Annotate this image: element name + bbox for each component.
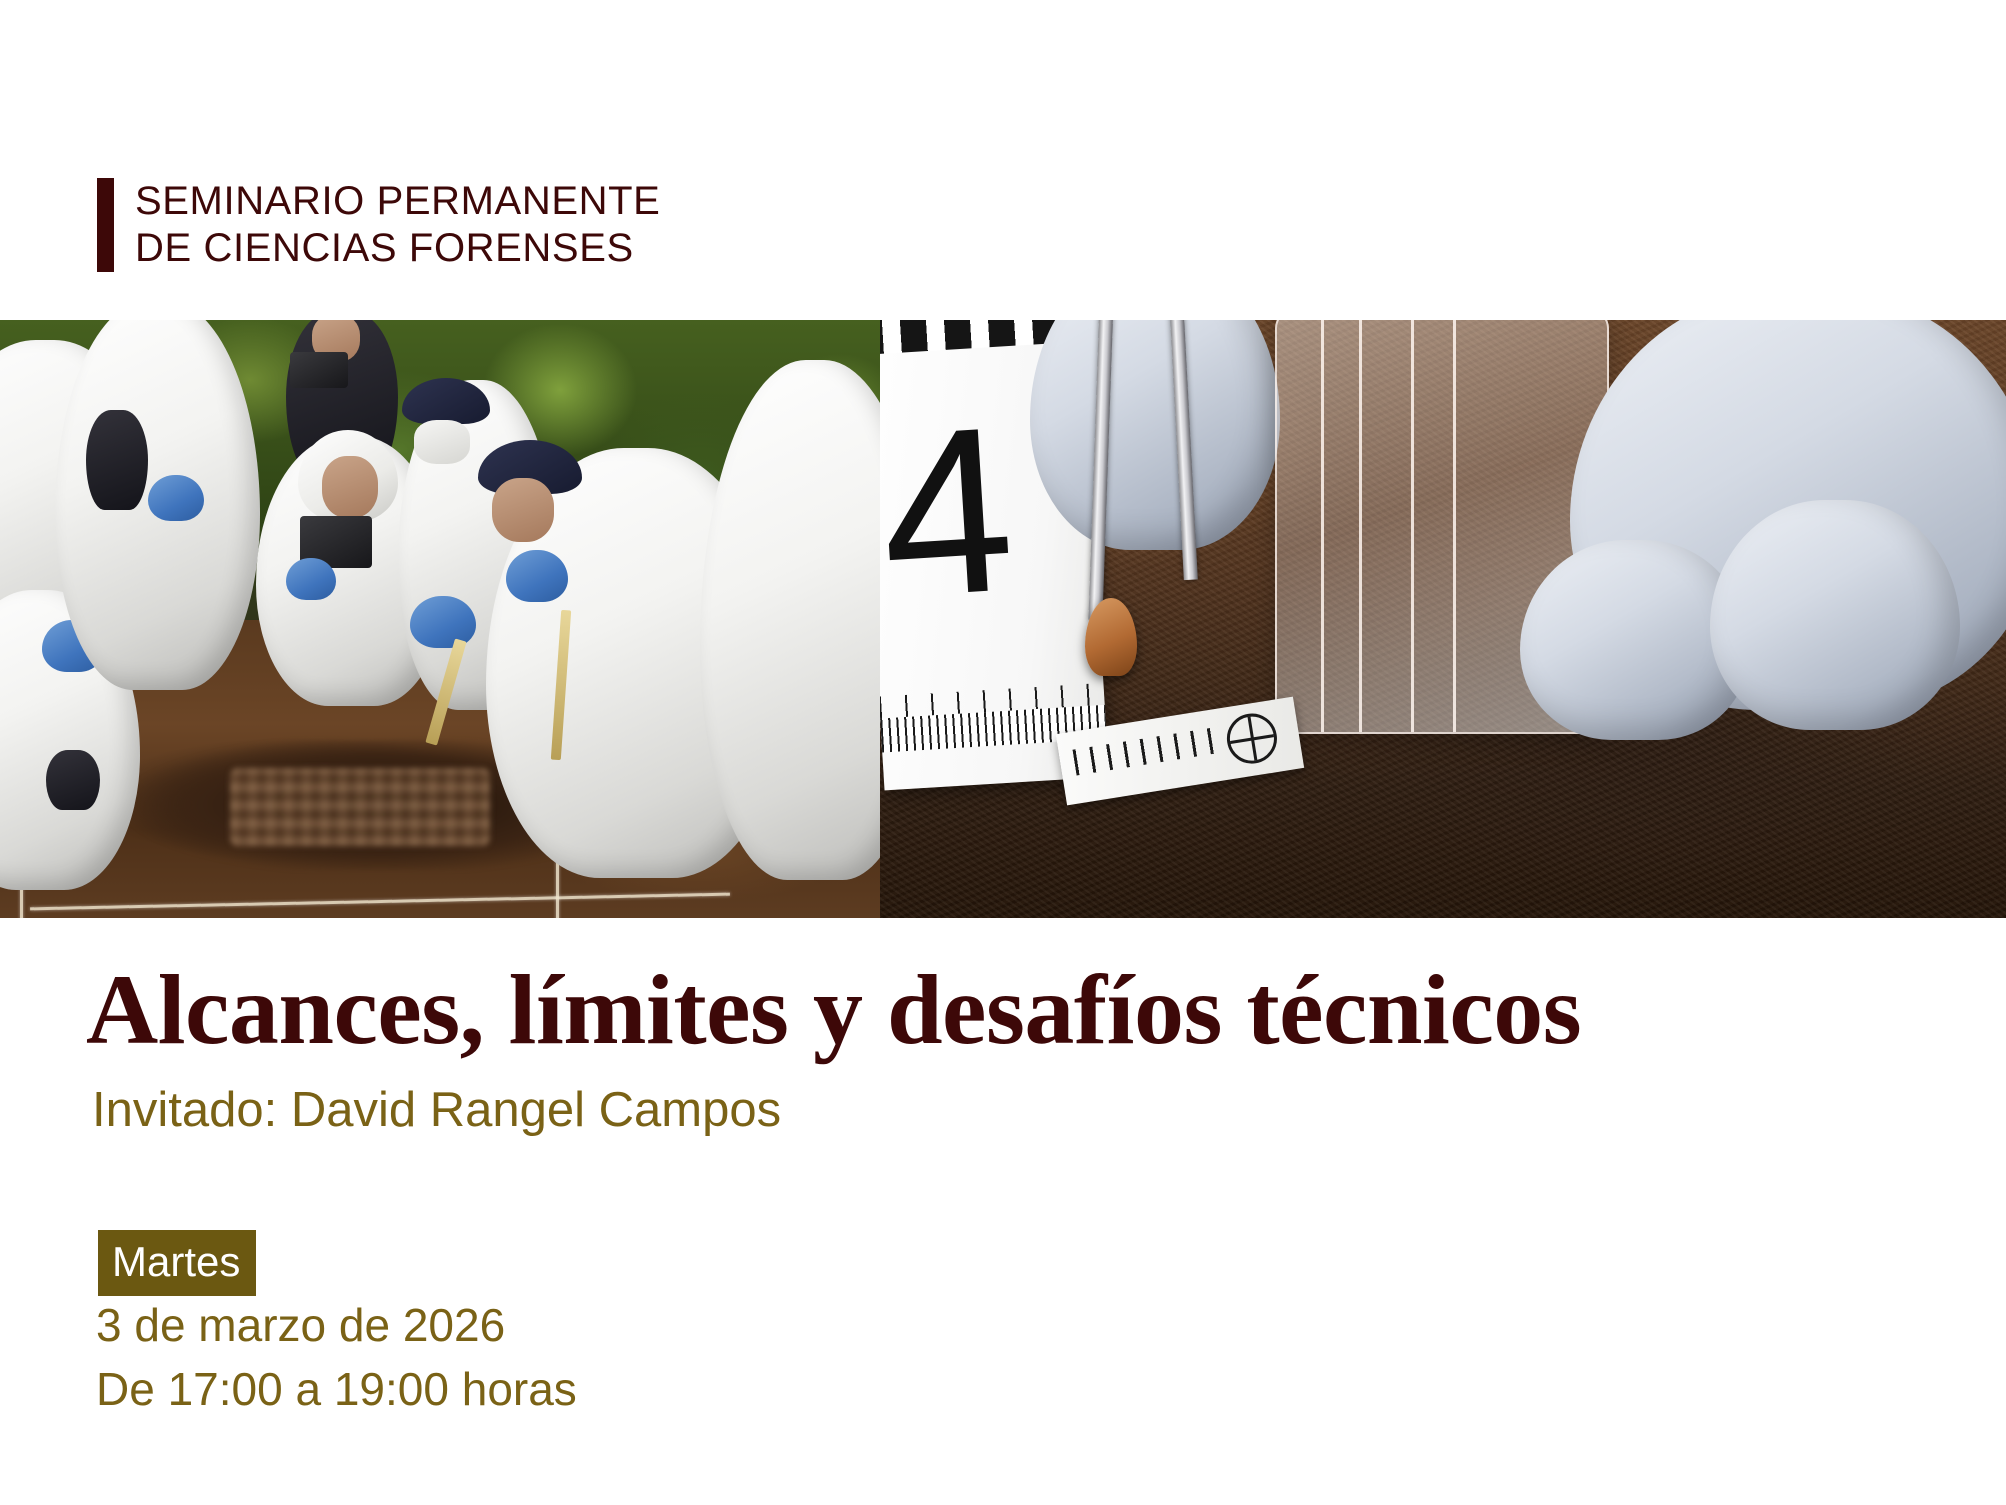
gloved-fingers [1710, 500, 1960, 730]
gloved-hand-left [1030, 320, 1280, 550]
scale-ticks [1072, 726, 1224, 775]
page-title: Alcances, límites y desafíos técnicos [86, 960, 1581, 1060]
accent-bar-icon [97, 178, 114, 272]
photo-evidence-collection: 4 [880, 320, 2006, 918]
evidence-marker-number: 4 [880, 390, 1019, 633]
bag-fold [1359, 320, 1362, 732]
technician-face [492, 478, 554, 542]
guest-speaker: Invitado: David Rangel Campos [92, 1084, 781, 1138]
blue-glove [148, 475, 204, 521]
poster-content: Alcances, límites y desafíos técnicos In… [0, 918, 2006, 1505]
face-mask [414, 420, 470, 464]
photo-forensic-excavation [0, 320, 880, 918]
header-inner: SEMINARIO PERMANENTE DE CIENCIAS FORENSE… [97, 178, 660, 272]
event-date: 3 de marzo de 2026 [96, 1300, 505, 1351]
blue-glove [410, 596, 476, 648]
equipment-dark [46, 750, 100, 810]
camera [290, 352, 348, 388]
technician-face [322, 456, 378, 518]
event-time: De 17:00 a 19:00 horas [96, 1364, 577, 1415]
day-badge: Martes [98, 1230, 256, 1296]
blurred-remains-area [230, 768, 490, 846]
bag-fold [1321, 320, 1324, 732]
header-line-2: DE CIENCIAS FORENSES [135, 225, 660, 272]
blue-glove [286, 558, 336, 600]
bag-fold [1411, 320, 1414, 732]
blue-glove [506, 550, 568, 602]
camera-strap [86, 410, 148, 510]
header-text-block: SEMINARIO PERMANENTE DE CIENCIAS FORENSE… [135, 178, 660, 272]
poster-header: SEMINARIO PERMANENTE DE CIENCIAS FORENSE… [0, 0, 2006, 320]
header-line-1: SEMINARIO PERMANENTE [135, 178, 660, 225]
scale-circle-target-icon [1223, 710, 1280, 767]
bag-fold [1453, 320, 1456, 732]
photo-band: 4 [0, 320, 2006, 918]
